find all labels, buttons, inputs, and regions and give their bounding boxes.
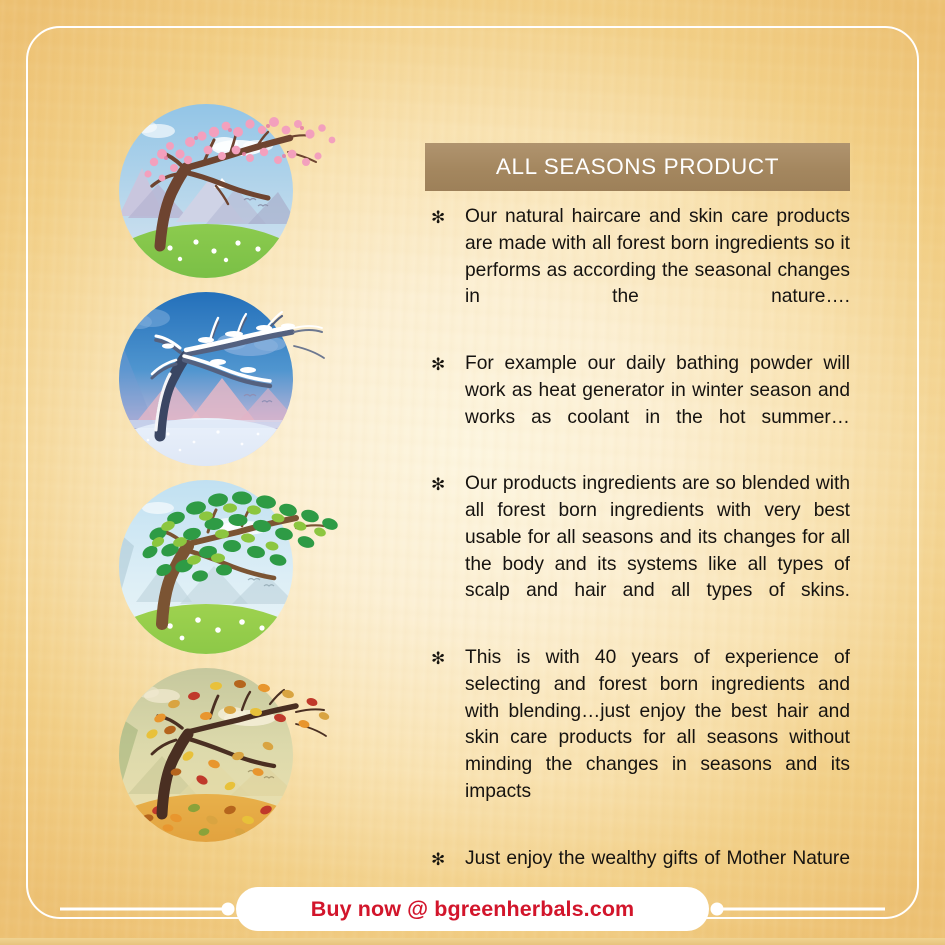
list-item-text: For example our daily bathing powder wil… <box>465 351 850 458</box>
decorative-line-right <box>717 908 885 911</box>
decorative-line-left <box>60 908 228 911</box>
poster-root: ALL SEASONS PRODUCT ✻ Our natural hairca… <box>0 0 945 945</box>
list-item-text: This is with 40 years of experience of s… <box>465 645 850 833</box>
buy-now-button[interactable]: Buy now @ bgreenherbals.com <box>236 887 709 931</box>
asterisk-bullet-icon: ✻ <box>431 352 445 379</box>
season-circle-autumn <box>118 660 418 850</box>
asterisk-bullet-icon: ✻ <box>431 472 445 499</box>
list-item: ✻ This is with 40 years of experience of… <box>425 645 850 833</box>
season-circle-winter <box>118 284 418 474</box>
decorative-dot-right <box>711 903 724 916</box>
product-info-panel: ALL SEASONS PRODUCT ✻ Our natural hairca… <box>425 143 850 899</box>
season-illustration-column <box>118 96 418 856</box>
panel-header-bar: ALL SEASONS PRODUCT <box>425 143 850 191</box>
list-item: ✻ Our products ingredients are so blende… <box>425 471 850 632</box>
season-circle-summer <box>118 472 418 662</box>
page-title: ALL SEASONS PRODUCT <box>496 154 779 180</box>
asterisk-bullet-icon: ✻ <box>431 205 445 232</box>
season-circle-spring <box>118 96 418 286</box>
decorative-dot-left <box>222 903 235 916</box>
asterisk-bullet-icon: ✻ <box>431 847 445 874</box>
footer-baseline-strip <box>0 938 945 945</box>
buy-now-label: Buy now @ bgreenherbals.com <box>311 897 635 922</box>
list-item-text: Our natural haircare and skin care produ… <box>465 204 850 338</box>
feature-bullet-list: ✻ Our natural haircare and skin care pro… <box>425 204 850 899</box>
list-item: ✻ For example our daily bathing powder w… <box>425 351 850 458</box>
footer-cta-strip: Buy now @ bgreenherbals.com <box>0 873 945 945</box>
list-item-text: Our products ingredients are so blended … <box>465 471 850 632</box>
asterisk-bullet-icon: ✻ <box>431 646 445 673</box>
list-item: ✻ Our natural haircare and skin care pro… <box>425 204 850 338</box>
